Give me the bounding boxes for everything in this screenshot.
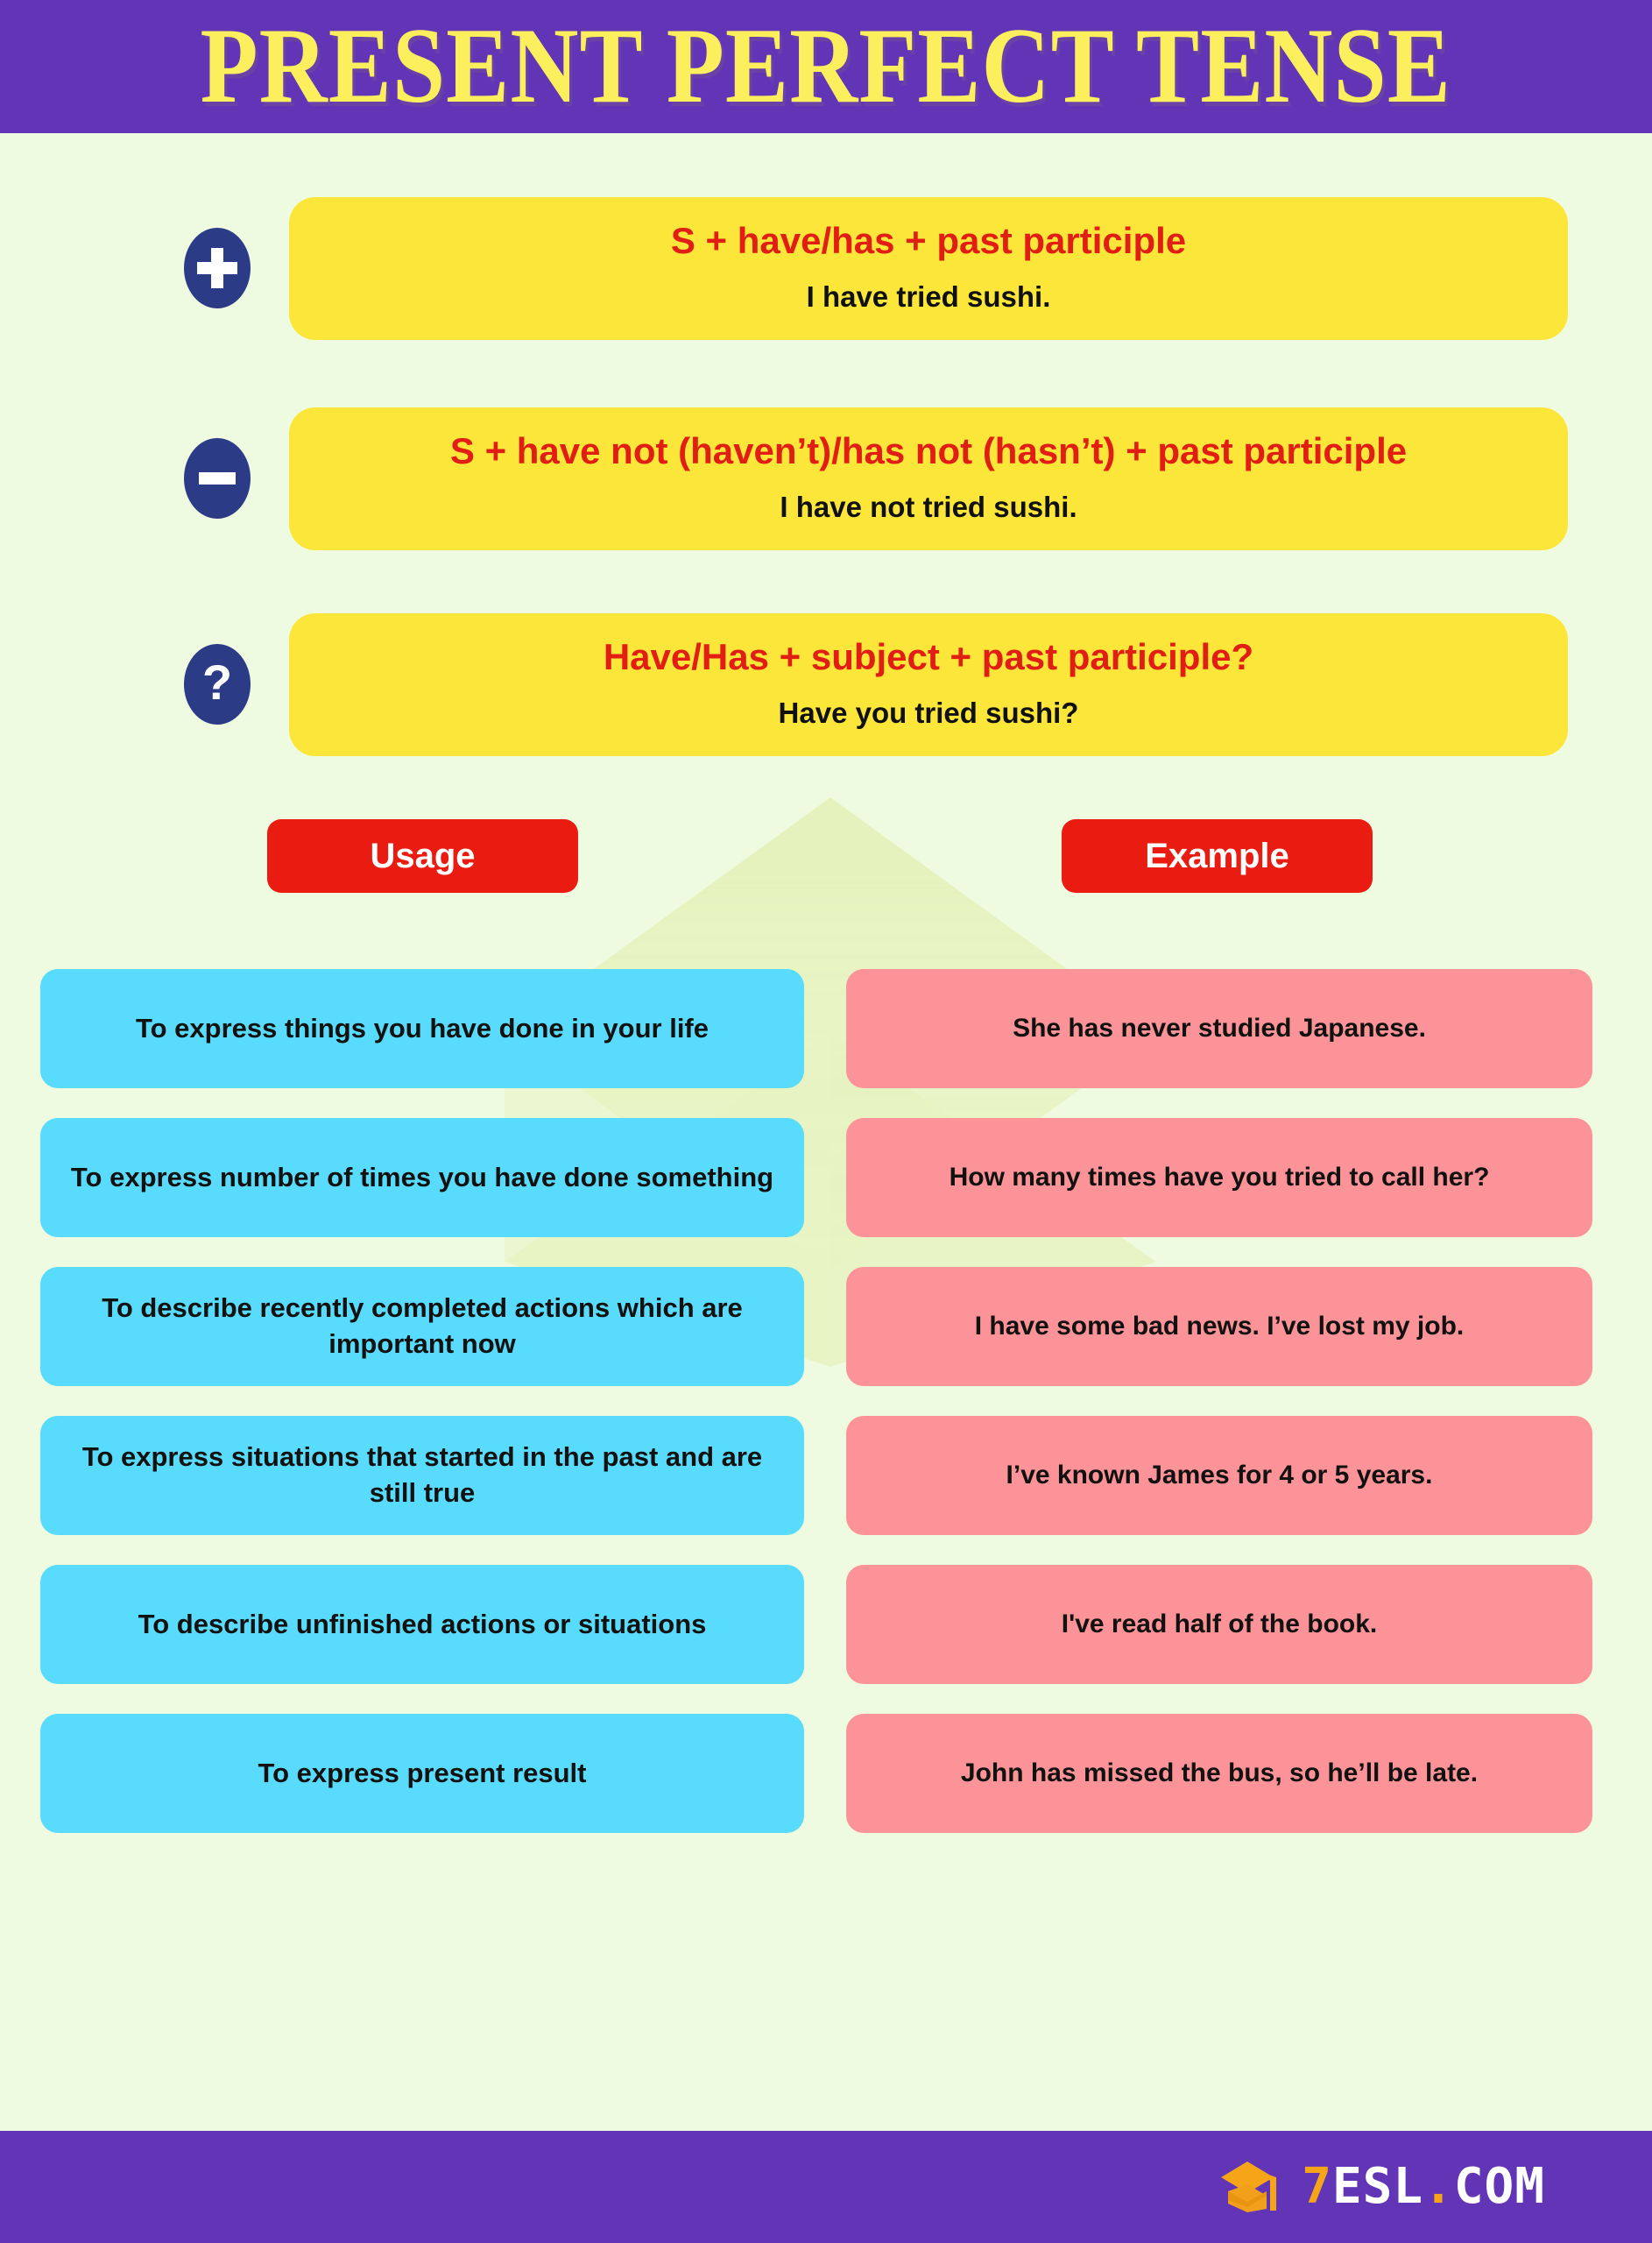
example-cell: I have some bad news. I’ve lost my job.: [846, 1267, 1592, 1386]
logo-com: COM: [1454, 2158, 1545, 2215]
formula-card-question: Have/Has + subject + past participle? Ha…: [289, 613, 1568, 756]
table-row: To express present result John has misse…: [0, 1714, 1652, 1833]
page-title: PRESENT PERFECT TENSE: [201, 18, 1451, 117]
site-logo[interactable]: 7ESL.COM: [1221, 2158, 1545, 2216]
usage-cell: To describe recently completed actions w…: [40, 1267, 804, 1386]
usage-cell: To express present result: [40, 1714, 804, 1833]
formula-pattern: S + have/has + past participle: [324, 216, 1533, 266]
plus-icon: [184, 228, 251, 308]
column-header-example: Example: [1062, 819, 1373, 893]
logo-7: 7: [1302, 2158, 1332, 2215]
usage-cell: To describe unfinished actions or situat…: [40, 1565, 804, 1684]
usage-cell: To express number of times you have done…: [40, 1118, 804, 1237]
formula-card-negative: S + have not (haven’t)/has not (hasn’t) …: [289, 407, 1568, 550]
example-cell: I’ve known James for 4 or 5 years.: [846, 1416, 1592, 1535]
example-cell: She has never studied Japanese.: [846, 969, 1592, 1088]
page-footer: 7ESL.COM: [0, 2131, 1652, 2243]
formula-row-question: ? Have/Has + subject + past participle? …: [184, 613, 1568, 756]
table-row: To express things you have done in your …: [0, 969, 1652, 1088]
formula-pattern: S + have not (haven’t)/has not (hasn’t) …: [324, 427, 1533, 477]
usage-cell: To express situations that started in th…: [40, 1416, 804, 1535]
formula-example: Have you tried sushi?: [324, 693, 1533, 733]
table-row: To express number of times you have done…: [0, 1118, 1652, 1237]
example-cell: John has missed the bus, so he’ll be lat…: [846, 1714, 1592, 1833]
formula-row-negative: S + have not (haven’t)/has not (hasn’t) …: [184, 407, 1568, 550]
formula-pattern: Have/Has + subject + past participle?: [324, 633, 1533, 683]
column-header-usage: Usage: [267, 819, 578, 893]
logo-dot: .: [1423, 2158, 1454, 2215]
question-mark-icon: ?: [184, 644, 251, 725]
table-row: To describe unfinished actions or situat…: [0, 1565, 1652, 1684]
infographic-page: PRESENT PERFECT TENSE S + have/has + pas…: [0, 0, 1652, 2243]
minus-icon: [184, 438, 251, 519]
example-cell: I've read half of the book.: [846, 1565, 1592, 1684]
formula-example: I have tried sushi.: [324, 277, 1533, 317]
page-header: PRESENT PERFECT TENSE: [0, 0, 1652, 133]
example-cell: How many times have you tried to call he…: [846, 1118, 1592, 1237]
table-row: To express situations that started in th…: [0, 1416, 1652, 1535]
table-row: To describe recently completed actions w…: [0, 1267, 1652, 1386]
formula-row-affirmative: S + have/has + past participle I have tr…: [184, 197, 1568, 340]
logo-wordmark: 7ESL.COM: [1302, 2162, 1545, 2211]
formula-card-affirmative: S + have/has + past participle I have tr…: [289, 197, 1568, 340]
usage-example-table: To express things you have done in your …: [0, 969, 1652, 1863]
usage-cell: To express things you have done in your …: [40, 969, 804, 1088]
logo-esl: ESL: [1332, 2158, 1423, 2215]
graduation-cap-icon: [1221, 2158, 1286, 2216]
formula-example: I have not tried sushi.: [324, 487, 1533, 527]
